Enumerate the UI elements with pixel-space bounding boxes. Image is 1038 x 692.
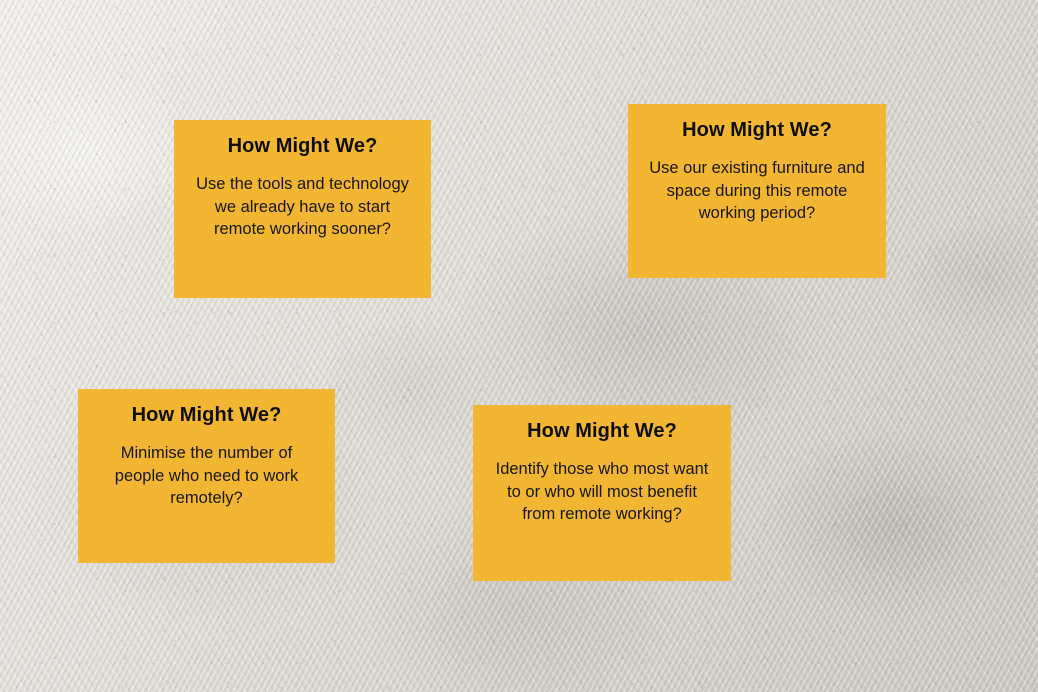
card-body: Identify those who most want to or who w… <box>489 458 715 526</box>
card-body: Use our existing furniture and space dur… <box>644 157 870 225</box>
card-title: How Might We? <box>190 134 415 159</box>
card-body: Use the tools and technology we already … <box>190 173 415 241</box>
card-title: How Might We? <box>644 118 870 143</box>
card-title: How Might We? <box>94 403 319 428</box>
sticky-note-card[interactable]: How Might We? Minimise the number of peo… <box>78 389 335 563</box>
card-body: Minimise the number of people who need t… <box>94 442 319 510</box>
sticky-note-card[interactable]: How Might We? Use the tools and technolo… <box>174 120 431 298</box>
sticky-note-card[interactable]: How Might We? Use our existing furniture… <box>628 104 886 278</box>
card-title: How Might We? <box>489 419 715 444</box>
sticky-note-card[interactable]: How Might We? Identify those who most wa… <box>473 405 731 581</box>
